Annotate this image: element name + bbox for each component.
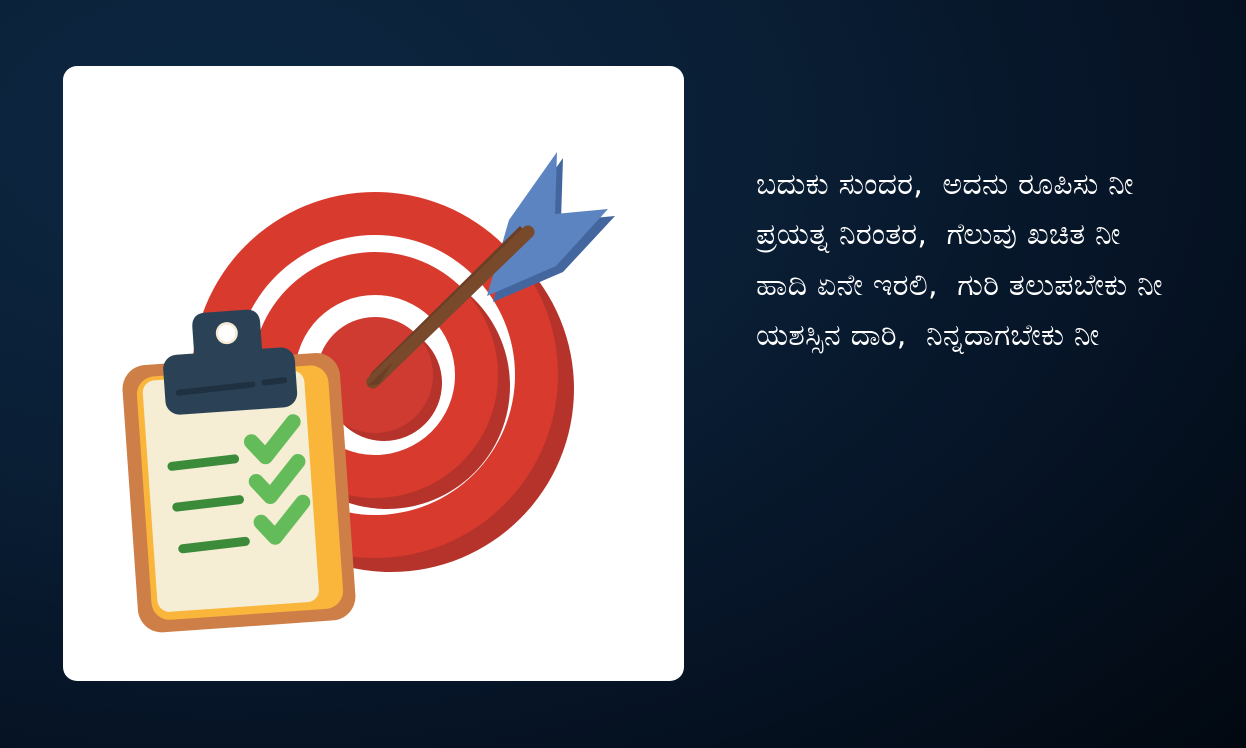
quote-line-1: ಬದುಕು ಸುಂದರ, ಅದನು ರೂಪಿಸು ನೀ <box>756 160 1216 210</box>
quote-line-2: ಪ್ರಯತ್ನ ನಿರಂತರ, ಗೆಲುವು ಖಚಿತ ನೀ <box>756 210 1216 260</box>
illustration-card <box>63 66 684 681</box>
clip-groove-short <box>264 380 284 382</box>
quote-block: ಬದುಕು ಸುಂದರ, ಅದನು ರೂಪಿಸು ನೀ ಪ್ರಯತ್ನ ನಿರಂ… <box>756 160 1216 362</box>
quote-line-3: ಹಾದಿ ಏನೇ ಇರಲಿ, ಗುರಿ ತಲುಪಬೇಕು ನೀ <box>756 261 1216 311</box>
target-illustration <box>63 66 684 681</box>
quote-line-4: ಯಶಸ್ಸಿನ ದಾರಿ, ನಿನ್ನದಾಗಬೇಕು ನೀ <box>756 311 1216 361</box>
